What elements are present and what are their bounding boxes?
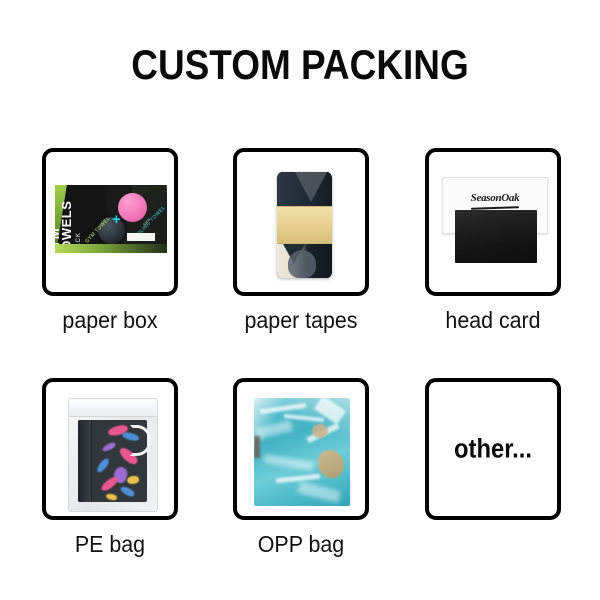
splash-blue-2 [96, 457, 111, 474]
plastic-hanger-hook [130, 425, 151, 456]
towel-fold-edge [78, 420, 92, 502]
caption-paper-box: paper box [47, 309, 173, 332]
splash-yellow-1 [126, 475, 139, 485]
splash-pink-3 [100, 475, 120, 493]
pe-bag-zip-seal [69, 399, 157, 417]
packing-options-grid: + GYM TOWELS 2 PACK GYM TOWEL COOLING TO… [42, 148, 560, 548]
caption-head-card: head card [430, 309, 556, 332]
white-info-bar [127, 233, 155, 241]
head-card-image-frame: SeasonOak [425, 148, 561, 296]
tan-content-patch-top [312, 424, 328, 438]
caption-opp-bag: OPP bag [238, 533, 364, 556]
opp-bag-image-frame [233, 378, 369, 520]
gloss-highlight-5 [264, 454, 315, 471]
packing-option-opp-bag[interactable]: OPP bag [233, 378, 369, 556]
packing-option-paper-tapes[interactable]: paper tapes [233, 148, 369, 332]
caption-pe-bag: PE bag [47, 533, 173, 556]
gloss-highlight-3 [255, 420, 293, 439]
plus-symbol: + [112, 212, 121, 227]
kraft-paper-tape-band [277, 206, 332, 244]
gloss-highlight-1 [260, 403, 306, 414]
roll-upper-shadow-wedge [295, 172, 327, 202]
bottom-green-strip [55, 244, 167, 253]
roll-lower-rounded-shape [288, 250, 316, 278]
other-text: other... [437, 436, 550, 463]
splash-blue-3 [119, 485, 136, 498]
paper-box-artwork: + GYM TOWELS 2 PACK GYM TOWEL COOLING TO… [55, 185, 167, 253]
packing-option-other[interactable]: other... [425, 378, 561, 533]
paper-tapes-image-frame [233, 148, 369, 296]
pe-bag-artwork [68, 398, 158, 512]
pe-bag-image-frame [42, 378, 178, 520]
tan-content-patch [318, 450, 344, 478]
caption-paper-tapes: paper tapes [238, 309, 364, 332]
packing-option-pe-bag[interactable]: PE bag [42, 378, 178, 556]
gloss-highlight-7 [297, 481, 341, 503]
paper-tapes-artwork [277, 172, 332, 278]
other-image-frame: other... [425, 378, 561, 520]
splash-yellow-2 [106, 493, 118, 500]
custom-packing-infographic: CUSTOM PACKING + GYM TOWELS 2 PACK GYM T… [0, 0, 600, 600]
head-card-logo-text: SeasonOak [443, 192, 547, 204]
packing-option-head-card[interactable]: SeasonOak head card [425, 148, 561, 332]
page-title: CUSTOM PACKING [36, 44, 564, 86]
paper-box-image-frame: + GYM TOWELS 2 PACK GYM TOWEL COOLING TO… [42, 148, 178, 296]
packing-option-paper-box[interactable]: + GYM TOWELS 2 PACK GYM TOWEL COOLING TO… [42, 148, 178, 332]
gloss-highlight-6 [276, 474, 320, 484]
pink-towel-circle [118, 193, 147, 222]
black-towel-under-card [455, 210, 537, 263]
opp-bag-artwork [254, 398, 350, 506]
splash-purple-1 [101, 441, 116, 453]
dark-edge-shadow [254, 436, 260, 458]
